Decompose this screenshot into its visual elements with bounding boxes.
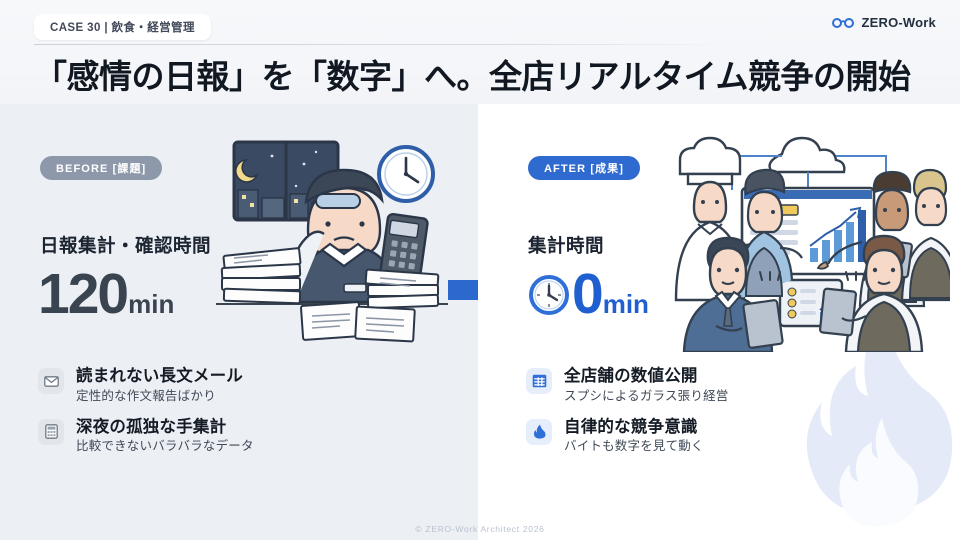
after-kpi-number: 0 xyxy=(572,266,602,323)
list-item-text: 深夜の孤独な手集計 比較できないバラバラなデータ xyxy=(76,417,254,456)
list-item-heading: 読まれない長文メール xyxy=(76,366,243,387)
brand-logo: ZERO-Work xyxy=(832,15,936,30)
before-kpi-number: 120 xyxy=(38,266,127,323)
list-item: 読まれない長文メール 定性的な作文報告ばかり xyxy=(38,366,438,405)
before-bullet-list: 読まれない長文メール 定性的な作文報告ばかり 深夜の孤独な手集計 比較できないバ… xyxy=(38,366,438,455)
list-item-sub: 比較できないバラバラなデータ xyxy=(76,438,254,455)
after-kpi-value: 0 min xyxy=(528,266,649,323)
slide-header: CASE 30 | 飲食・経営管理 ZERO-Work 「感情の日報」を「数字」… xyxy=(0,0,960,104)
list-item-heading: 深夜の孤独な手集計 xyxy=(76,417,254,438)
list-item: 深夜の孤独な手集計 比較できないバラバラなデータ xyxy=(38,417,438,456)
after-kpi-label: 集計時間 xyxy=(528,232,604,258)
list-item-text: 読まれない長文メール 定性的な作文報告ばかり xyxy=(76,366,243,405)
header-divider xyxy=(34,44,734,45)
glasses-icon xyxy=(832,17,854,29)
after-bullet-list: 全店舗の数値公開 スプシによるガラス張り経営 自律的な競争意識 バイトも数字を見… xyxy=(526,366,926,455)
slide-root: CASE 30 | 飲食・経営管理 ZERO-Work 「感情の日報」を「数字」… xyxy=(0,0,960,540)
list-item-sub: 定性的な作文報告ばかり xyxy=(76,388,243,405)
before-kpi-unit: min xyxy=(128,291,174,317)
case-badge: CASE 30 | 飲食・経営管理 xyxy=(34,14,211,40)
before-kpi-label: 日報集計・確認時間 xyxy=(40,232,211,258)
page-title: 「感情の日報」を「数字」へ。全店リアルタイム競争の開始 xyxy=(34,50,934,98)
brand-name: ZERO-Work xyxy=(861,15,936,30)
list-item-text: 全店舗の数値公開 スプシによるガラス張り経営 xyxy=(564,366,728,405)
mail-icon xyxy=(38,368,64,394)
table-grid-icon xyxy=(526,368,552,394)
list-item: 自律的な競争意識 バイトも数字を見て動く xyxy=(526,417,926,456)
calculator-icon xyxy=(38,419,64,445)
list-item-sub: スプシによるガラス張り経営 xyxy=(564,388,728,405)
stressed-worker-night-paperwork-illustration xyxy=(216,132,448,352)
list-item-heading: 自律的な競争意識 xyxy=(564,417,704,438)
clock-icon xyxy=(528,274,570,316)
after-kpi-unit: min xyxy=(603,291,649,317)
list-item-heading: 全店舗の数値公開 xyxy=(564,366,728,387)
team-tablets-dashboard-cloud-illustration xyxy=(650,130,950,352)
case-badge-label: CASE 30 | 飲食・経営管理 xyxy=(50,19,195,35)
flame-icon xyxy=(526,419,552,445)
footer-copyright: © ZERO-Work Architect 2026 xyxy=(0,524,960,534)
list-item-text: 自律的な競争意識 バイトも数字を見て動く xyxy=(564,417,704,456)
before-badge: BEFORE [課題] xyxy=(40,156,162,180)
after-badge: AFTER [成果] xyxy=(528,156,640,180)
list-item: 全店舗の数値公開 スプシによるガラス張り経営 xyxy=(526,366,926,405)
before-kpi-value: 120 min xyxy=(38,266,174,323)
list-item-sub: バイトも数字を見て動く xyxy=(564,438,704,455)
